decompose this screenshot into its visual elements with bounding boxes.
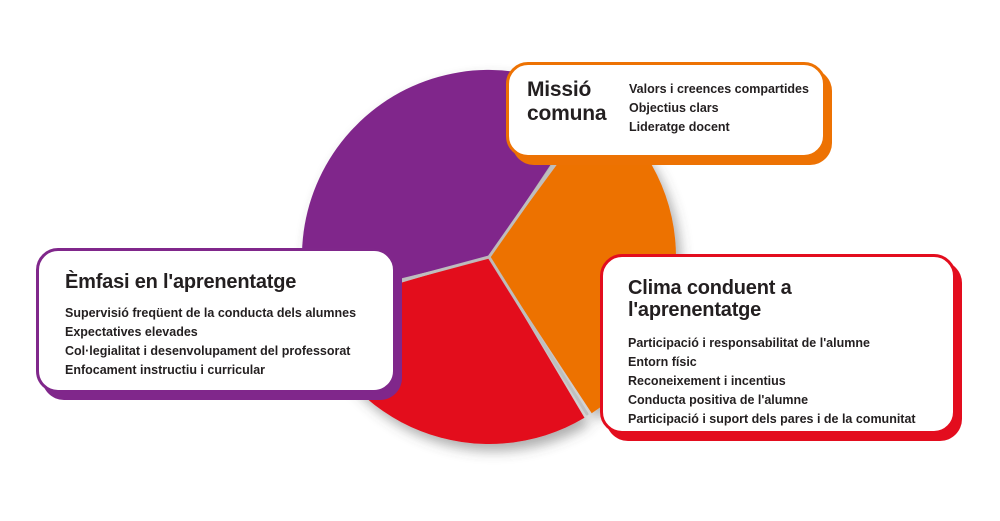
callout-mission-title: Missió comuna <box>527 78 619 125</box>
callout-mission-list: Valors i creences compartides Objectius … <box>629 80 809 137</box>
list-item: Enfocament instructiu i curricular <box>65 361 393 380</box>
list-item: Objectius clars <box>629 99 809 118</box>
list-item: Supervisió freqüent de la conducta dels … <box>65 304 393 323</box>
list-item: Valors i creences compartides <box>629 80 809 99</box>
list-item: Lideratge docent <box>629 118 809 137</box>
callout-climate-title: Clima conduent a l'aprenentatge <box>628 277 953 322</box>
callout-emphasis[interactable]: Èmfasi en l'aprenentatge Supervisió freq… <box>36 248 396 393</box>
callout-climate[interactable]: Clima conduent a l'aprenentatge Particip… <box>600 254 956 434</box>
list-item: Participació i suport dels pares i de la… <box>628 410 953 429</box>
diagram-canvas: Missió comuna Valors i creences comparti… <box>0 0 1000 521</box>
callout-climate-list: Participació i responsabilitat de l'alum… <box>628 334 953 429</box>
callout-emphasis-list: Supervisió freqüent de la conducta dels … <box>65 304 393 380</box>
list-item: Expectatives elevades <box>65 323 393 342</box>
callout-emphasis-panel: Èmfasi en l'aprenentatge Supervisió freq… <box>36 248 396 393</box>
list-item: Entorn físic <box>628 353 953 372</box>
callout-mission-panel: Missió comuna Valors i creences comparti… <box>506 62 826 158</box>
list-item: Reconeixement i incentius <box>628 372 953 391</box>
list-item: Participació i responsabilitat de l'alum… <box>628 334 953 353</box>
list-item: Col·legialitat i desenvolupament del pro… <box>65 342 393 361</box>
list-item: Conducta positiva de l'alumne <box>628 391 953 410</box>
callout-emphasis-title: Èmfasi en l'aprenentatge <box>65 271 393 293</box>
callout-mission[interactable]: Missió comuna Valors i creences comparti… <box>506 62 826 158</box>
callout-climate-panel: Clima conduent a l'aprenentatge Particip… <box>600 254 956 434</box>
